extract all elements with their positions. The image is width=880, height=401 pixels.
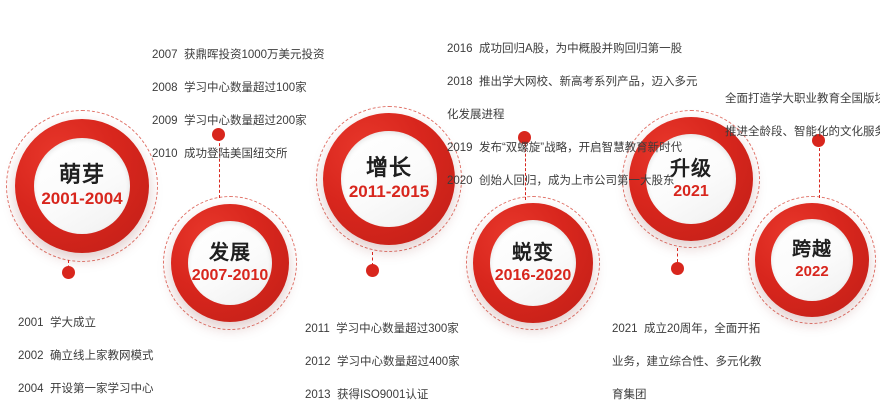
note-top-1: 2007 获鼎晖投资1000万美元投资 2008 学习中心数量超过100家 20… <box>152 30 325 179</box>
node-years-2: 2007-2010 <box>192 267 269 285</box>
note-line: 2009 学习中心数量超过200家 <box>152 113 325 130</box>
note-line: 2016 成功回归A股，为中概股并购回归第一股 <box>447 41 697 58</box>
note-line: 2020 创始人回归，成为上市公司第一大股东 <box>447 173 697 190</box>
node-inner-1: 萌芽 2001-2004 <box>34 138 130 234</box>
milestone-node-1[interactable]: 萌芽 2001-2004 <box>15 119 149 253</box>
node-years-3: 2011-2015 <box>349 183 429 202</box>
note-line: 2007 获鼎晖投资1000万美元投资 <box>152 47 325 64</box>
note-line: 2013 获得ISO9001认证 <box>305 387 481 401</box>
note-line: 2004 开设第一家学习中心 <box>18 381 153 398</box>
connector-dot-5 <box>671 262 684 275</box>
note-line: 2008 学习中心数量超过100家 <box>152 80 325 97</box>
note-line: 推进全龄段、智能化的文化服务 <box>725 124 880 141</box>
note-top-3: 全面打造学大职业教育全国版块 推进全龄段、智能化的文化服务 <box>725 74 880 157</box>
node-years-4: 2016-2020 <box>495 267 572 285</box>
note-line: 育集团 <box>612 387 762 401</box>
connector-dot-1 <box>62 266 75 279</box>
node-inner-2: 发展 2007-2010 <box>188 221 273 306</box>
node-title-4: 蜕变 <box>512 242 554 264</box>
note-line: 2011 学习中心数量超过300家 <box>305 321 481 338</box>
note-line: 2018 推出学大网校、新高考系列产品，迈入多元 <box>447 74 697 91</box>
note-line: 业务，建立综合性、多元化教 <box>612 354 762 371</box>
node-inner-6: 跨越 2022 <box>771 219 853 301</box>
note-line: 2012 学习中心数量超过400家 <box>305 354 481 371</box>
note-line: 2002 确立线上家教网模式 <box>18 348 153 365</box>
node-years-6: 2022 <box>795 264 828 281</box>
milestone-node-4[interactable]: 蜕变 2016-2020 <box>473 203 593 323</box>
milestone-node-3[interactable]: 增长 2011-2015 <box>323 113 455 245</box>
milestone-node-2[interactable]: 发展 2007-2010 <box>171 204 289 322</box>
note-bottom-2: 2011 学习中心数量超过300家 2012 学习中心数量超过400家 2013… <box>305 304 481 401</box>
timeline-diagram: 萌芽 2001-2004 发展 2007-2010 增长 2011-2015 蜕… <box>0 0 880 401</box>
note-line: 化发展进程 <box>447 107 697 124</box>
node-inner-4: 蜕变 2016-2020 <box>490 220 576 306</box>
note-bottom-1: 2001 学大成立 2002 确立线上家教网模式 2004 开设第一家学习中心 <box>18 298 153 401</box>
milestone-node-6[interactable]: 跨越 2022 <box>755 203 869 317</box>
note-line: 2021 成立20周年，全面开拓 <box>612 321 762 338</box>
connector-stalk-5 <box>677 248 678 262</box>
note-line: 2010 成功登陆美国纽交所 <box>152 146 325 163</box>
node-title-6: 跨越 <box>792 240 832 261</box>
note-line: 2001 学大成立 <box>18 315 153 332</box>
note-bottom-3: 2021 成立20周年，全面开拓 业务，建立综合性、多元化教 育集团 <box>612 304 762 401</box>
node-title-1: 萌芽 <box>59 163 105 187</box>
connector-dot-3 <box>366 264 379 277</box>
note-line: 全面打造学大职业教育全国版块 <box>725 91 880 108</box>
node-inner-3: 增长 2011-2015 <box>341 131 436 226</box>
node-years-1: 2001-2004 <box>41 190 122 209</box>
note-top-2: 2016 成功回归A股，为中概股并购回归第一股 2018 推出学大网校、新高考系… <box>447 24 697 206</box>
node-title-2: 发展 <box>209 242 251 264</box>
node-title-3: 增长 <box>366 156 412 180</box>
note-line: 2019 发布“双螺旋”战略，开启智慧教育新时代 <box>447 140 697 157</box>
